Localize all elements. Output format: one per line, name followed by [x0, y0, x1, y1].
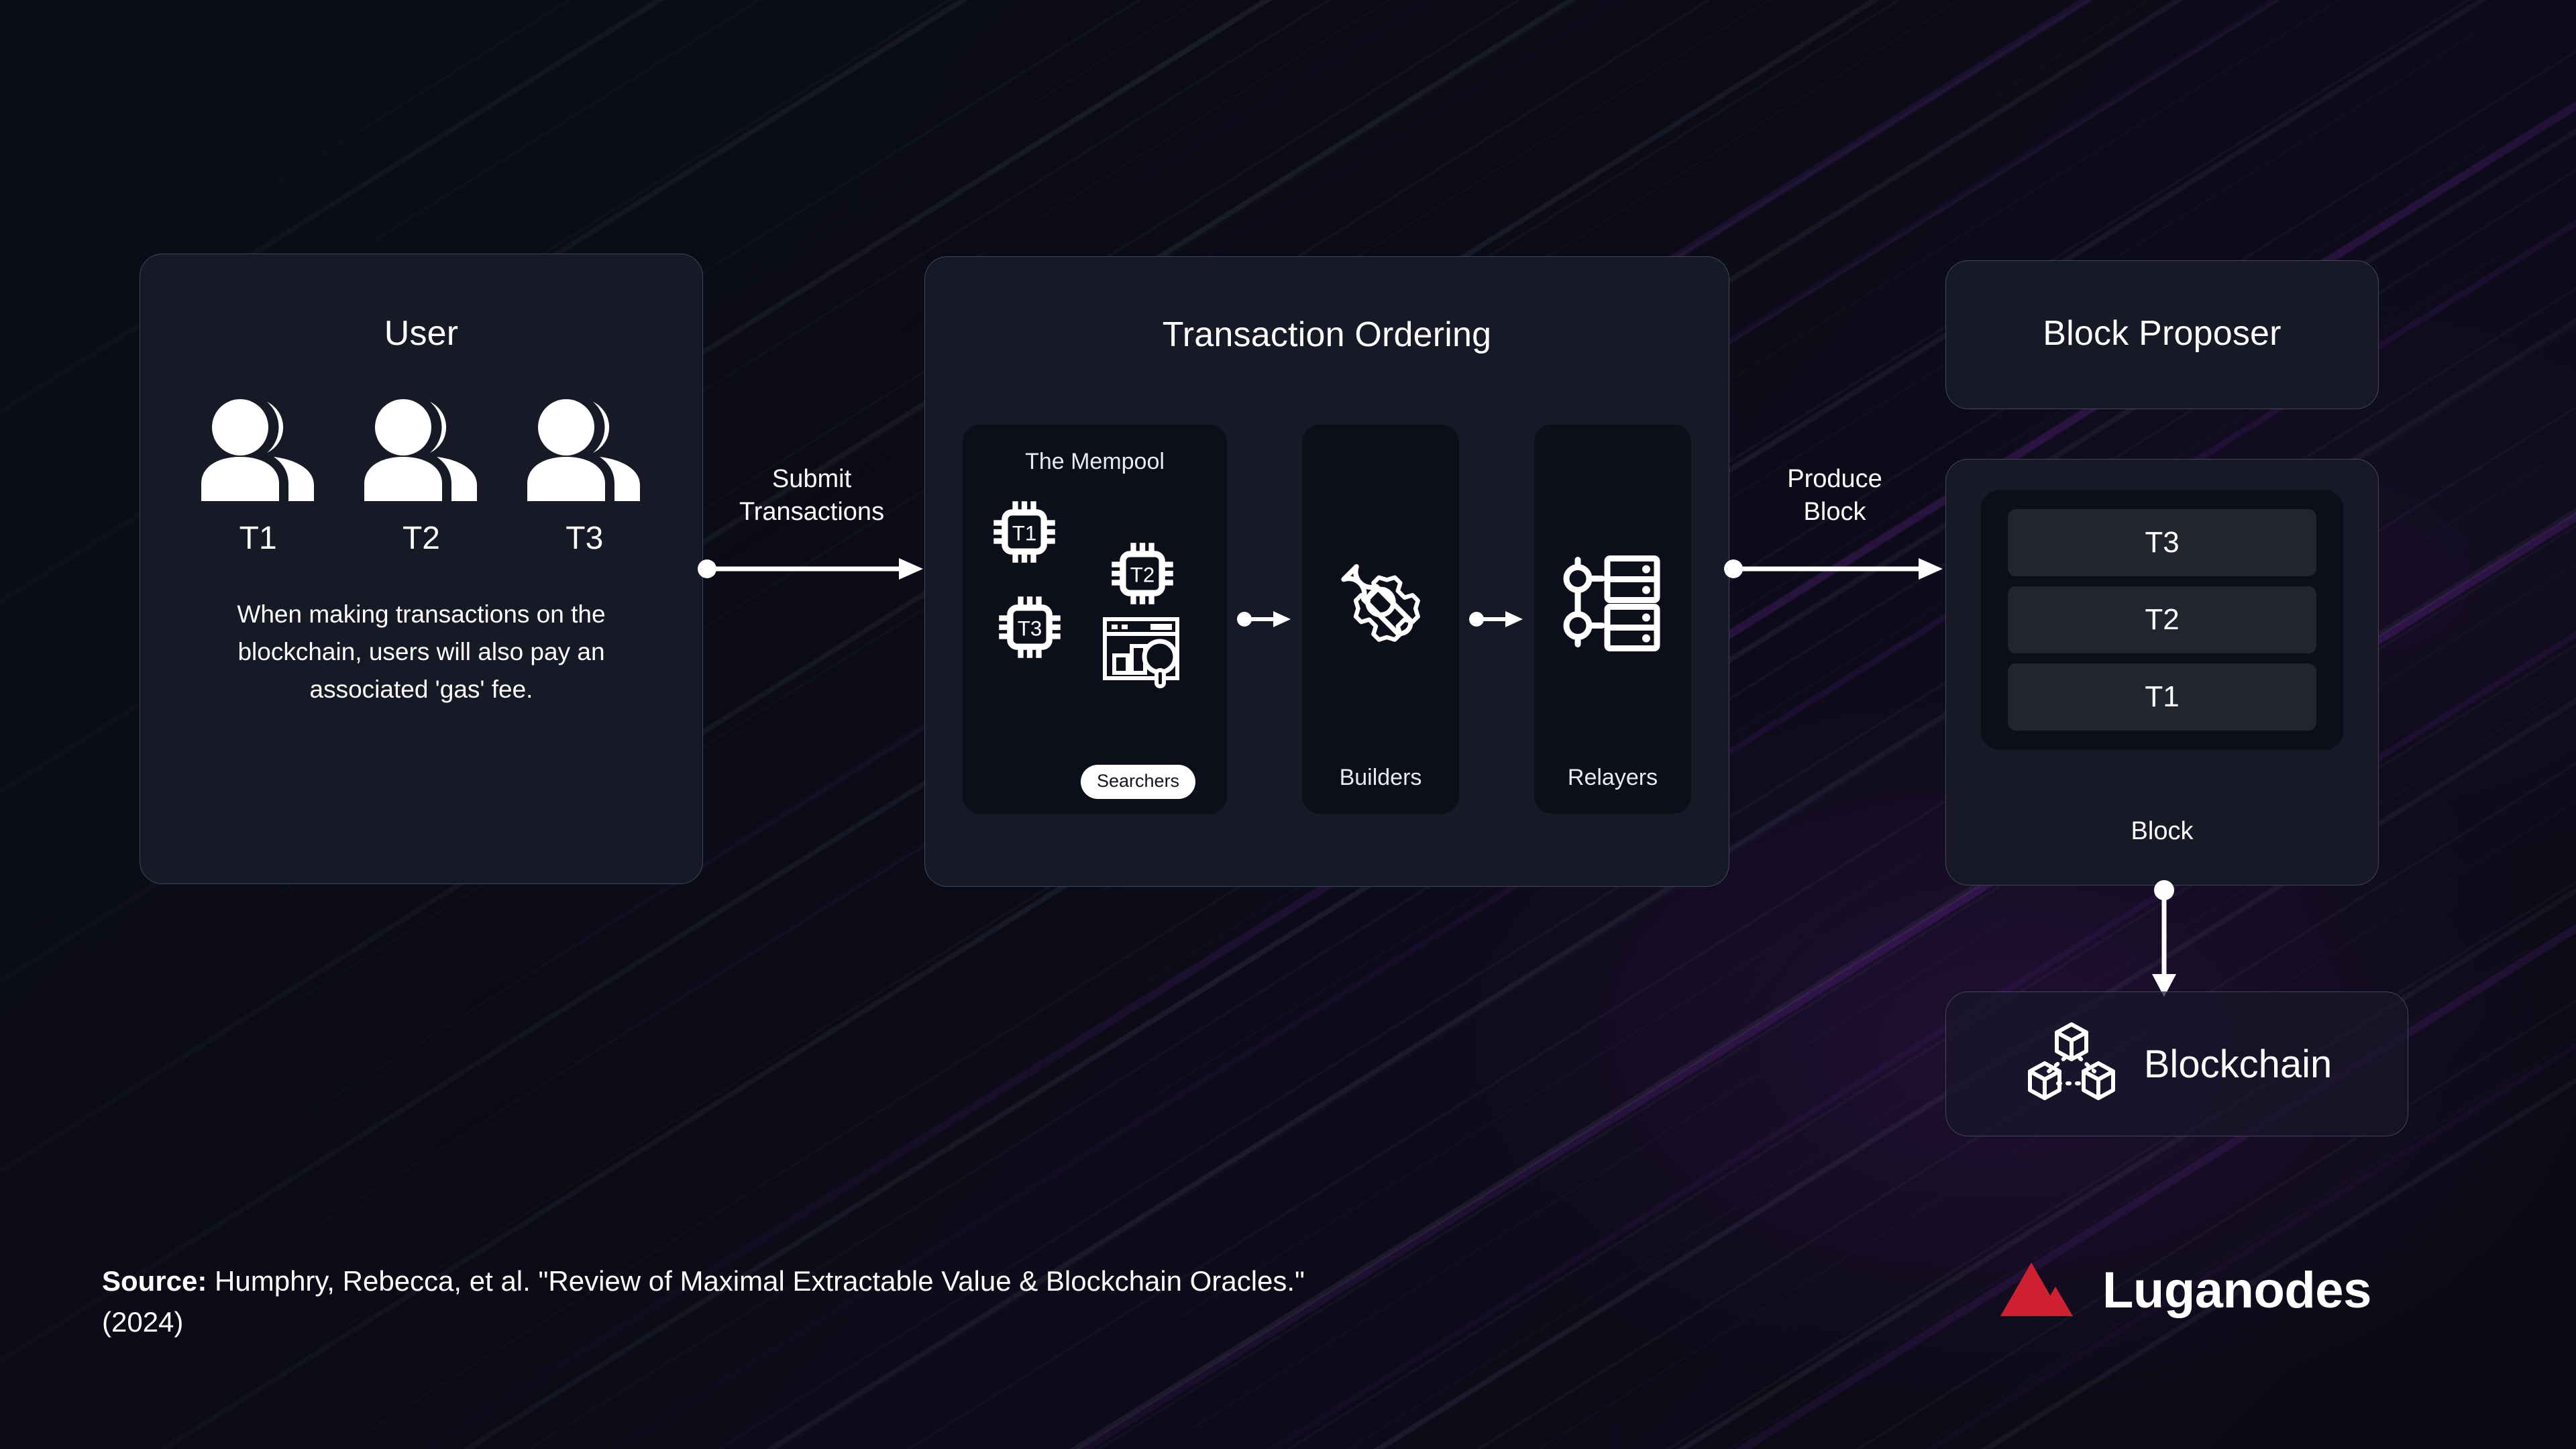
- searchers-badge: Searchers: [1081, 765, 1195, 799]
- arrow-submit-caption: Submit Transactions: [739, 463, 884, 528]
- user-label-3: T3: [566, 520, 603, 557]
- arrow-produce-caption-line2: Block: [1787, 496, 1882, 529]
- block-card: T3 T2 T1 Block: [1945, 459, 2379, 885]
- svg-text:T2: T2: [1130, 563, 1155, 586]
- arrow-builders-to-relayers: [1459, 425, 1534, 814]
- block-proposer-title: Block Proposer: [1946, 313, 2378, 354]
- mempool-panel: The Mempool T1: [963, 425, 1227, 814]
- users-icon: [521, 395, 648, 502]
- builders-panel: Builders: [1302, 425, 1459, 814]
- diagram-canvas: User T1: [0, 0, 2576, 1449]
- analytics-search-icon: [1101, 614, 1187, 689]
- source-label: Source:: [102, 1265, 207, 1297]
- cpu-chip-icon: T2: [1108, 539, 1177, 608]
- arrow-submit-caption-line1: Submit: [739, 463, 884, 496]
- relayers-label: Relayers: [1534, 765, 1691, 791]
- luganodes-mountain-logo: [1999, 1260, 2081, 1321]
- transaction-ordering-card: Transaction Ordering The Mempool T1: [924, 256, 1729, 887]
- block-tx-slot: T3: [2008, 509, 2316, 576]
- block-transaction-stack: T3 T2 T1: [1981, 490, 2343, 749]
- blockchain-cubes-icon: [2022, 1018, 2121, 1111]
- user-card: User T1: [140, 254, 703, 884]
- server-network-icon: [1560, 551, 1665, 655]
- brand-lockup: Luganodes: [1999, 1260, 2371, 1321]
- block-caption: Block: [1946, 817, 2378, 846]
- arrow-produce-caption: Produce Block: [1787, 463, 1882, 528]
- arrow-produce-caption-line1: Produce: [1787, 463, 1882, 496]
- source-attribution: Source: Humphry, Rebecca, et al. "Review…: [102, 1261, 1377, 1343]
- cpu-chip-icon: T3: [995, 592, 1065, 662]
- ordering-panels: The Mempool T1: [963, 425, 1691, 814]
- wrench-gear-icon: [1331, 552, 1430, 655]
- user-card-title: User: [140, 313, 702, 354]
- ordering-card-title: Transaction Ordering: [925, 315, 1729, 355]
- users-icon: [358, 395, 485, 502]
- block-tx-slot: T2: [2008, 586, 2316, 653]
- user-icon-row: T1 T2: [140, 395, 702, 557]
- user-label-1: T1: [239, 520, 277, 557]
- user-column-1: T1: [195, 395, 322, 557]
- builders-label: Builders: [1302, 765, 1459, 791]
- arrow-submit-transactions: Submit Transactions: [698, 463, 926, 617]
- blockchain-card: Blockchain: [1945, 991, 2408, 1136]
- block-tx-slot: T1: [2008, 663, 2316, 731]
- arrow-mempool-to-builders: [1227, 425, 1302, 814]
- arrow-submit-caption-line2: Transactions: [739, 496, 884, 529]
- block-proposer-card: Block Proposer: [1945, 260, 2379, 409]
- svg-text:T3: T3: [1018, 616, 1042, 640]
- source-text: Humphry, Rebecca, et al. "Review of Maxi…: [102, 1265, 1305, 1338]
- svg-text:T1: T1: [1012, 521, 1036, 545]
- brand-name: Luganodes: [2102, 1261, 2371, 1320]
- arrow-block-to-blockchain: [2144, 880, 2184, 998]
- arrow-produce-block: Produce Block: [1724, 463, 1945, 617]
- user-column-3: T3: [521, 395, 648, 557]
- user-column-2: T2: [358, 395, 485, 557]
- user-label-2: T2: [402, 520, 440, 557]
- users-icon: [195, 395, 322, 502]
- user-gas-fee-note: When making transactions on the blockcha…: [140, 596, 702, 709]
- mempool-title: The Mempool: [963, 449, 1227, 475]
- relayers-panel: Relayers: [1534, 425, 1691, 814]
- blockchain-label: Blockchain: [2144, 1042, 2332, 1087]
- cpu-chip-icon: T1: [989, 497, 1059, 567]
